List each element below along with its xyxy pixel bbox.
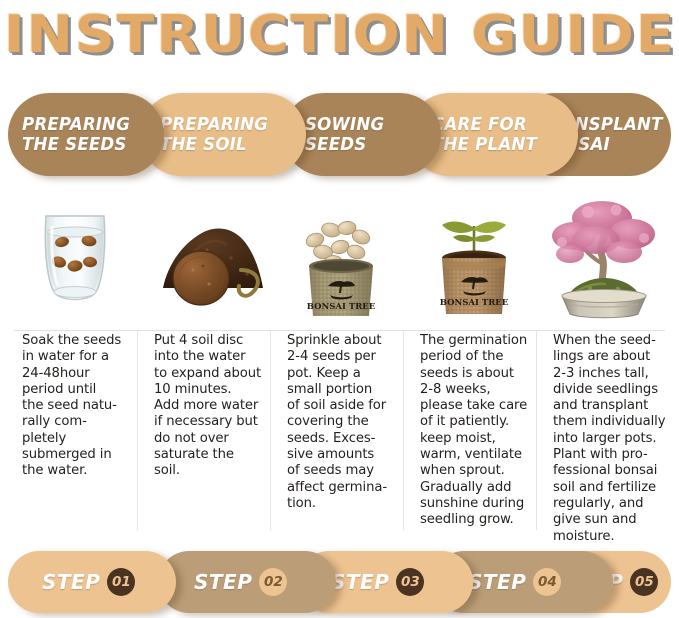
instruction-text-step-2: Put 4 soil disc into the water to expand… xyxy=(154,333,274,480)
page-title: INSTRUCTION GUIDE xyxy=(4,9,676,61)
stage-tab-bar: PREPARING THE SEEDS PREPARING THE SOIL S… xyxy=(8,93,671,176)
step-indicator-02[interactable]: STEP 02 xyxy=(158,551,336,613)
step-number-badge: 05 xyxy=(630,568,658,596)
soil-disc-and-soil-pile-image xyxy=(141,192,274,322)
step-indicator-01[interactable]: STEP 01 xyxy=(8,551,176,613)
pink-flowering-bonsai-tree-image xyxy=(536,192,669,322)
instruction-text-step-3: Sprinkle about 2-4 seeds per pot. Keep a… xyxy=(287,333,407,512)
tab-preparing-the-soil[interactable]: PREPARING THE SOIL xyxy=(140,93,306,176)
step-label: STEP xyxy=(468,570,526,594)
instruction-text-step-4: The germination period of the seeds is a… xyxy=(420,333,540,529)
tab-label: PREPARING THE SOIL xyxy=(160,115,268,155)
pot-logo-text: BONSAI TREE xyxy=(439,298,508,308)
instruction-text-step-1: Soak the seeds in water for a 24-48hour … xyxy=(22,333,142,480)
page-title-banner: INSTRUCTION GUIDE xyxy=(0,2,679,68)
step-label: STEP xyxy=(194,570,252,594)
step-number-badge: 04 xyxy=(533,568,561,596)
step-number-badge: 01 xyxy=(107,568,135,596)
step-label: STEP xyxy=(42,570,100,594)
step-label: STEP xyxy=(331,570,389,594)
instruction-text-row: Soak the seeds in water for a 24-48hour … xyxy=(8,333,671,541)
pot-logo-text: BONSAI TREE xyxy=(306,302,375,312)
illustration-row: BONSAI TREE xyxy=(8,192,671,322)
instruction-text-step-5: When the seed- lings are about 2-3 inche… xyxy=(553,333,677,545)
seedling-sprouting-in-burlap-pot-image: BONSAI TREE xyxy=(407,192,540,322)
seeds-above-burlap-pot-image: BONSAI TREE xyxy=(274,192,407,322)
seeds-soaking-in-glass-of-water-image xyxy=(8,192,141,322)
tab-label: PREPARING THE SEEDS xyxy=(22,115,130,155)
tab-label: SOWING SEEDS xyxy=(305,115,384,155)
step-number-bar: STEP 01 STEP 02 STEP 03 STEP 04 STEP 05 xyxy=(8,551,671,613)
tab-label: CARE FOR THE PLANT xyxy=(432,115,537,155)
step-number-badge: 02 xyxy=(259,568,287,596)
content-divider-horizontal xyxy=(14,330,665,331)
tab-preparing-the-seeds[interactable]: PREPARING THE SEEDS xyxy=(8,93,164,176)
step-number-badge: 03 xyxy=(396,568,424,596)
tab-sowing-seeds[interactable]: SOWING SEEDS xyxy=(283,93,441,176)
